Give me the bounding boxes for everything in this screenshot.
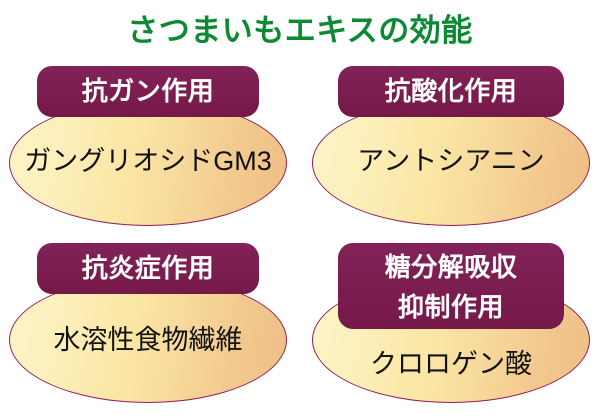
card-body-text: アントシアニン [313, 145, 589, 177]
card-sugar-absorption-suppression: クロロゲン酸 糖分解吸収 抑制作用 [312, 243, 592, 403]
card-body-ellipse: ガングリオシドGM3 [9, 100, 287, 226]
card-body-text: クロロゲン酸 [313, 348, 589, 380]
card-body-text: 水溶性食物繊維 [10, 324, 286, 356]
card-body-text: ガングリオシドGM3 [10, 145, 286, 177]
card-body-ellipse: 水溶性食物繊維 [9, 277, 287, 403]
card-badge-line: 抗ガン作用 [82, 72, 215, 111]
card-anti-inflammatory: 水溶性食物繊維 抗炎症作用 [9, 243, 289, 403]
card-antioxidant: アントシアニン 抗酸化作用 [312, 66, 592, 226]
card-badge-line: 糖分解吸収 [385, 247, 518, 287]
card-body-ellipse: アントシアニン [312, 100, 590, 226]
page-title: さつまいもエキスの効能 [0, 8, 600, 54]
card-badge-anti-inflammatory: 抗炎症作用 [37, 243, 259, 294]
card-badge-line: 抗酸化作用 [385, 72, 518, 111]
card-badge-sugar-absorption-suppression: 糖分解吸収 抑制作用 [338, 243, 564, 329]
infographic-canvas: さつまいもエキスの効能 ガングリオシドGM3 抗ガン作用 アントシアニン 抗酸化… [0, 0, 600, 420]
card-badge-line: 抗炎症作用 [82, 249, 215, 288]
card-badge-line: 抑制作用 [398, 287, 504, 327]
card-anti-cancer: ガングリオシドGM3 抗ガン作用 [9, 66, 289, 226]
card-badge-anti-cancer: 抗ガン作用 [37, 66, 259, 117]
card-badge-antioxidant: 抗酸化作用 [338, 66, 564, 117]
